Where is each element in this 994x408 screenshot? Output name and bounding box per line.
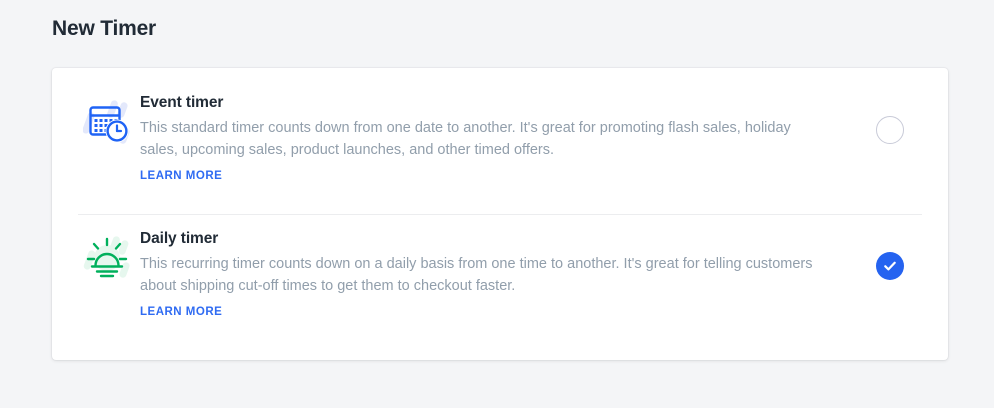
timer-type-card: Event timer This standard timer counts d… [52,68,948,360]
learn-more-link-daily-timer[interactable]: LEARN MORE [140,306,222,318]
calendar-clock-icon [78,94,140,148]
new-timer-page: New Timer [0,0,994,408]
learn-more-link-event-timer[interactable]: LEARN MORE [140,170,222,182]
sunrise-icon [78,230,140,284]
check-circle-icon[interactable] [876,252,904,280]
timer-option-body: Daily timer This recurring timer counts … [140,230,858,320]
radio-unselected-icon[interactable] [876,116,904,144]
timer-option-daily-timer[interactable]: Daily timer This recurring timer counts … [52,206,948,342]
timer-option-event-timer[interactable]: Event timer This standard timer counts d… [52,68,948,206]
timer-option-select-daily-timer[interactable] [858,230,922,280]
timer-option-select-event-timer[interactable] [858,94,922,144]
timer-option-title: Daily timer [140,230,834,248]
timer-option-body: Event timer This standard timer counts d… [140,94,858,184]
timer-option-description: This recurring timer counts down on a da… [140,253,830,297]
page-title: New Timer [52,17,156,41]
timer-option-title: Event timer [140,94,834,112]
timer-option-description: This standard timer counts down from one… [140,117,830,161]
